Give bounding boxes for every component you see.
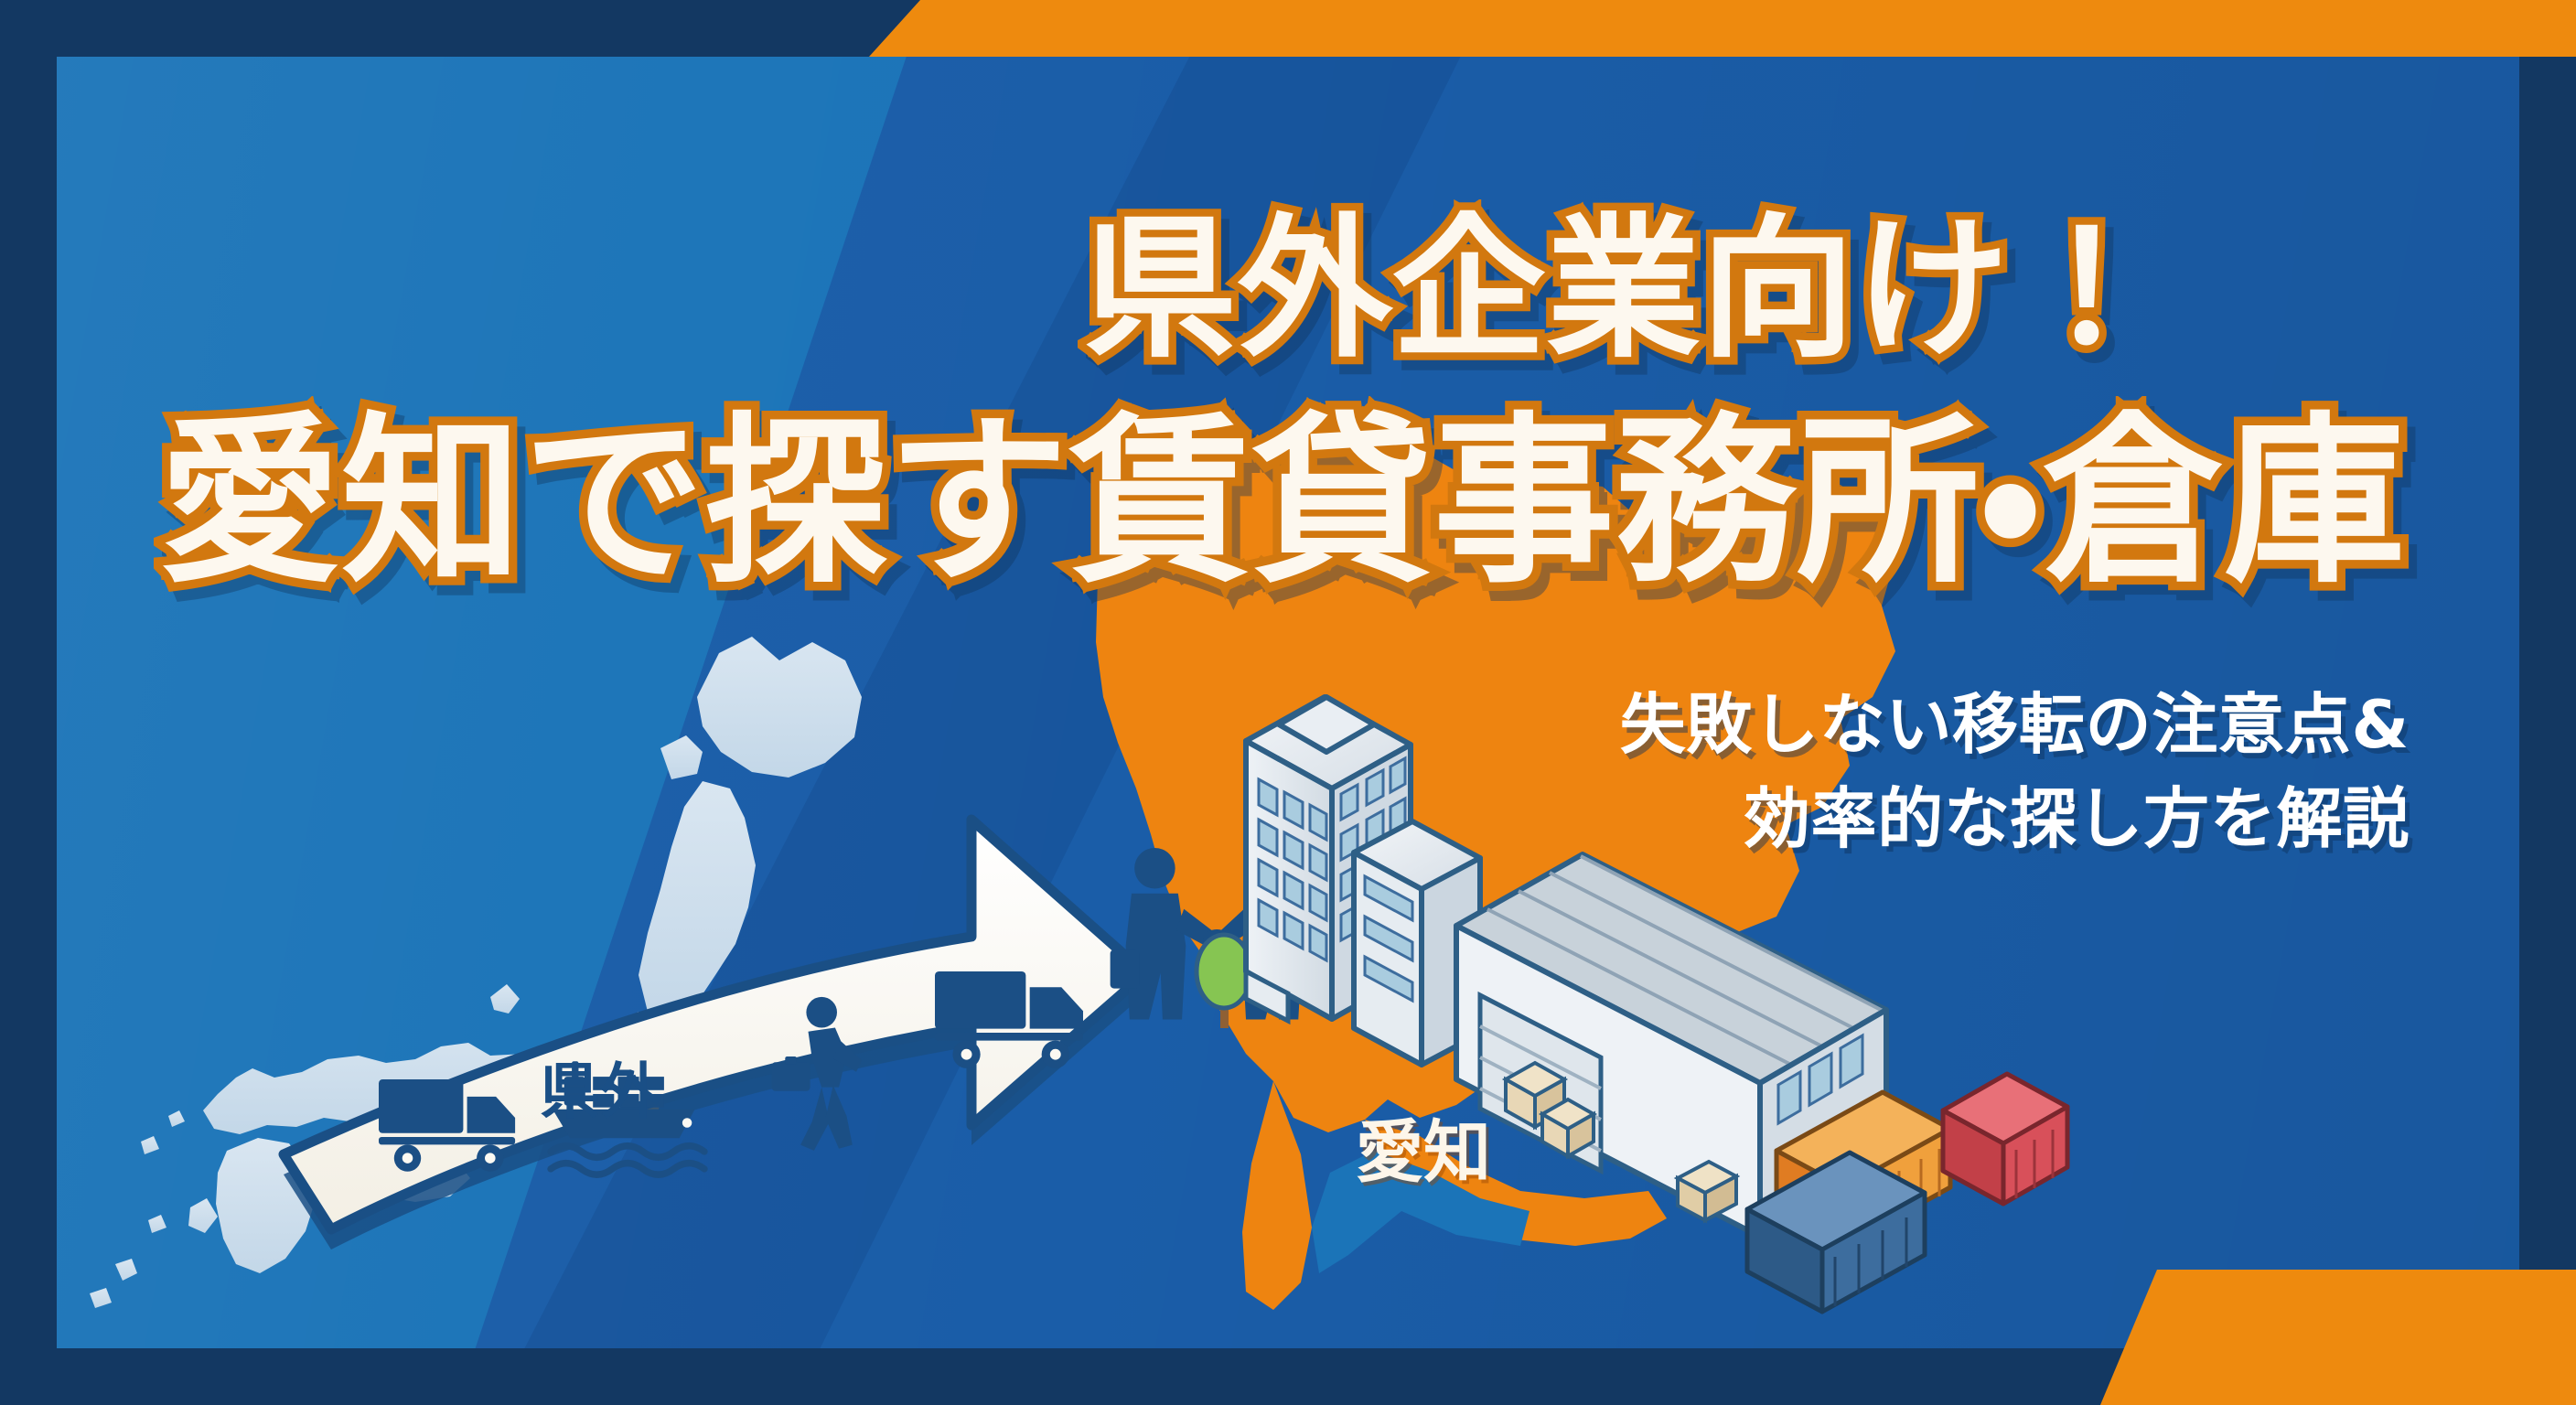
shipping-container-red — [1943, 1074, 2067, 1204]
inner-blue-panel: 県外 愛知 県外企業向け！ 愛知で探す賃貸事務所・倉庫 失敗しない移転の注意点&… — [57, 57, 2519, 1348]
accent-corner-bottom-right — [2100, 1270, 2576, 1405]
thumbnail-canvas: 県外 愛知 県外企業向け！ 愛知で探す賃貸事務所・倉庫 失敗しない移転の注意点&… — [0, 0, 2576, 1405]
artwork-layer — [57, 57, 2519, 1348]
japan-map-shape — [90, 637, 862, 1308]
accent-corner-top-right — [869, 0, 2576, 57]
